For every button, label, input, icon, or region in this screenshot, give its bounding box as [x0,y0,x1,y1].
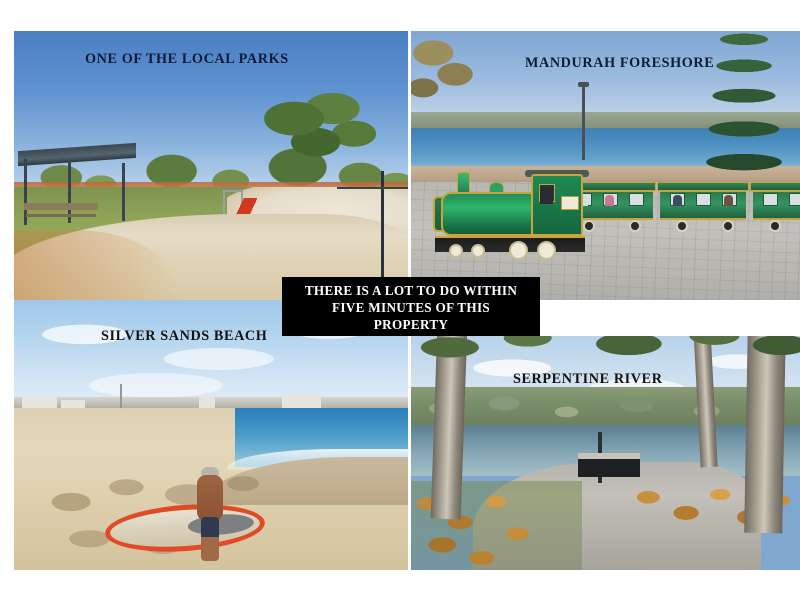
carriage-window [629,193,644,206]
caption-silver-sands-beach: SILVER SANDS BEACH [101,328,267,345]
torso [197,475,223,521]
passenger [605,195,614,206]
banner-line-3: PROPERTY [374,316,448,333]
carriage-wheel [722,220,734,232]
train-carriage [660,176,746,234]
carriage-wheel [769,220,781,232]
distant-building [61,400,85,408]
fence-wire [337,187,408,189]
carriage-window [696,193,711,206]
loco-wheel [509,241,528,260]
shelter-roof [18,143,136,166]
boat-jetty [578,453,640,477]
shelter-post [24,159,27,225]
loco-boiler [441,192,539,236]
caption-serpentine-river: SERPENTINE RIVER [513,371,663,388]
train-carriage [753,176,800,234]
central-text-banner: THERE IS A LOT TO DO WITHIN FIVE MINUTES… [282,277,540,336]
loco-wheel [537,241,556,260]
passenger [724,195,733,206]
passenger [673,195,682,206]
distant-building [282,395,321,409]
lamp-head [578,82,589,87]
train-driver [540,188,553,204]
foreshore-tree [411,31,487,117]
loco-wheel [471,244,485,258]
loco-wheel [449,244,463,258]
shelter-post [68,161,71,223]
lamp-post [582,85,585,160]
legs [201,517,219,561]
banner-line-2: FIVE MINUTES OF THIS [332,299,490,316]
carriage-wheel [676,220,688,232]
bush-texture [411,387,800,429]
distant-tower [120,384,122,408]
carriage-wheel [629,220,641,232]
caption-local-park: ONE OF THE LOCAL PARKS [85,51,289,68]
panel-local-park[interactable] [14,31,408,300]
picnic-shelter [18,147,136,233]
photo-collage: ONE OF THE LOCAL PARKS MANDURAH FORESHOR… [0,0,800,600]
tourist-train-locomotive [427,166,587,266]
picnic-table [24,203,98,210]
shelter-post [122,163,125,221]
carriage-window [763,193,778,206]
banner-line-1: THERE IS A LOT TO DO WITHIN [305,282,517,299]
caption-mandurah-foreshore: MANDURAH FORESHORE [525,55,714,72]
carriage-window [789,193,800,206]
loco-name-plate [561,196,579,210]
person-with-board [179,467,239,563]
large-tree [258,85,378,169]
distant-building [22,397,57,408]
distant-building [199,397,215,408]
